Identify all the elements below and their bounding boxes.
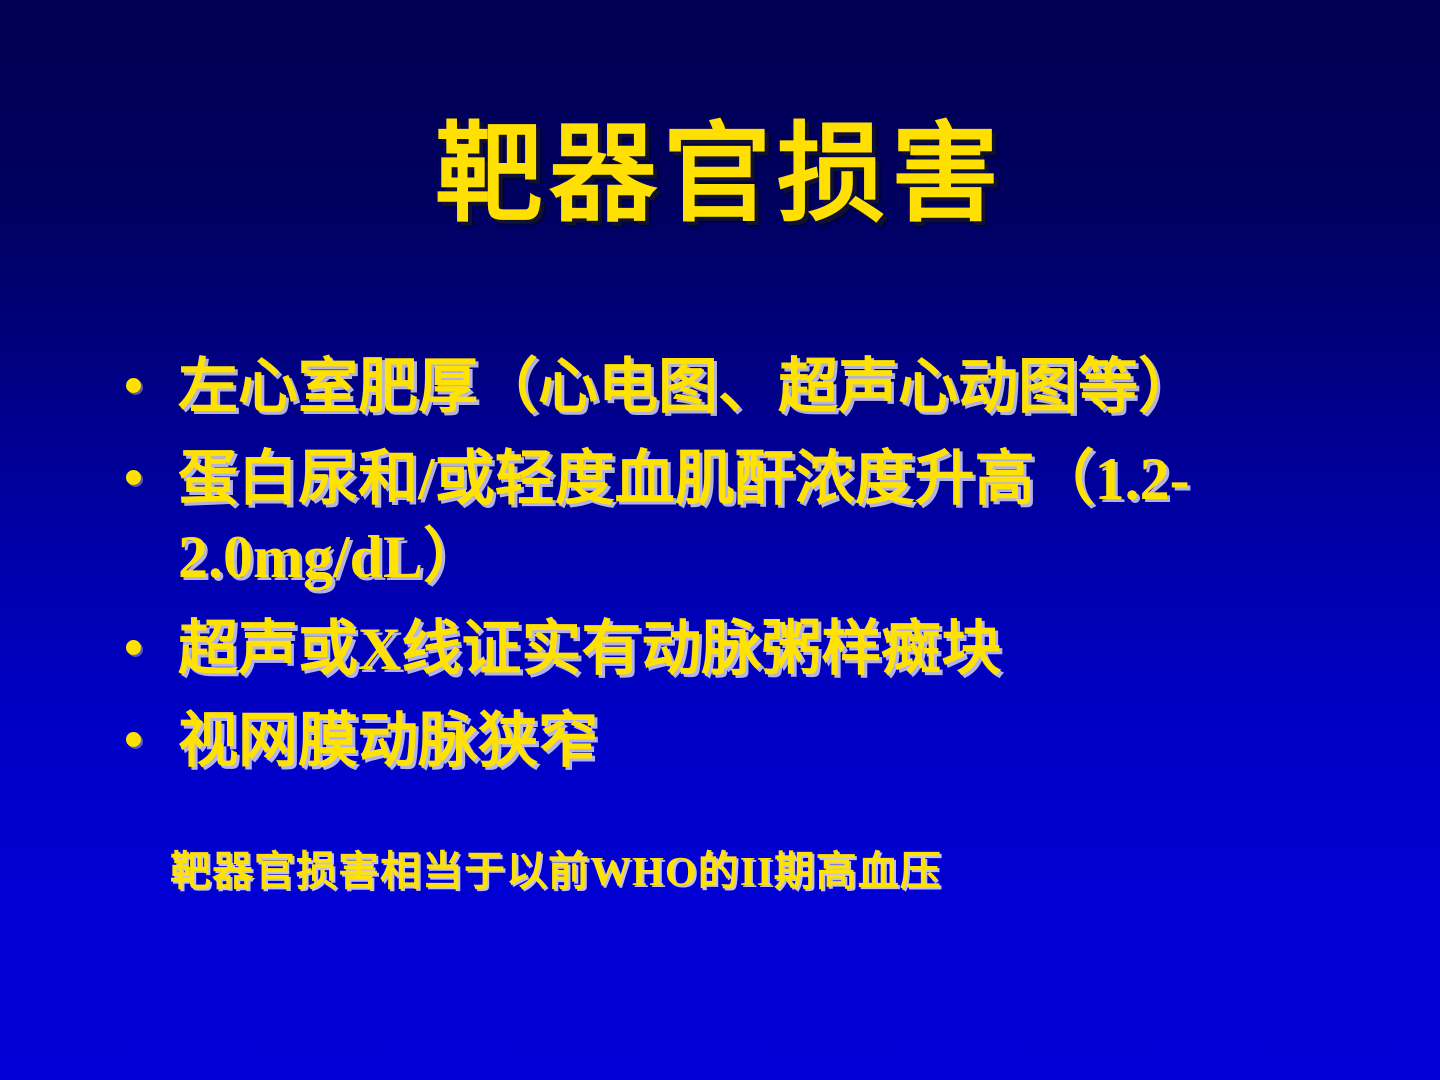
bullet-item-text: 视网膜动脉狭窄 bbox=[178, 702, 1428, 780]
slide-footnote: 靶器官损害相当于以前WHO的II期高血压 bbox=[170, 846, 942, 897]
bullet-list: 左心室肥厚（心电图、超声心动图等） 蛋白尿和/或轻度血肌酐浓度升高（1.2-2.… bbox=[108, 348, 1428, 794]
bullet-dot-icon bbox=[126, 470, 141, 485]
bullet-dot-icon bbox=[126, 640, 141, 655]
bullet-item-text: 蛋白尿和/或轻度血肌酐浓度升高（1.2-2.0mg/dL） bbox=[178, 440, 1378, 596]
presentation-slide: 靶器官损害 左心室肥厚（心电图、超声心动图等） 蛋白尿和/或轻度血肌酐浓度升高（… bbox=[0, 0, 1440, 1080]
bullet-dot-icon bbox=[126, 378, 141, 393]
list-item: 左心室肥厚（心电图、超声心动图等） bbox=[108, 348, 1428, 426]
list-item: 蛋白尿和/或轻度血肌酐浓度升高（1.2-2.0mg/dL） bbox=[108, 440, 1428, 596]
list-item: 超声或X线证实有动脉粥样癍块 bbox=[108, 610, 1428, 688]
slide-title: 靶器官损害 bbox=[435, 118, 1005, 235]
slide-title-container: 靶器官损害 bbox=[0, 118, 1440, 235]
list-item: 视网膜动脉狭窄 bbox=[108, 702, 1428, 780]
bullet-item-text: 左心室肥厚（心电图、超声心动图等） bbox=[178, 348, 1428, 426]
bullet-dot-icon bbox=[126, 732, 141, 747]
bullet-item-text: 超声或X线证实有动脉粥样癍块 bbox=[178, 610, 1428, 688]
